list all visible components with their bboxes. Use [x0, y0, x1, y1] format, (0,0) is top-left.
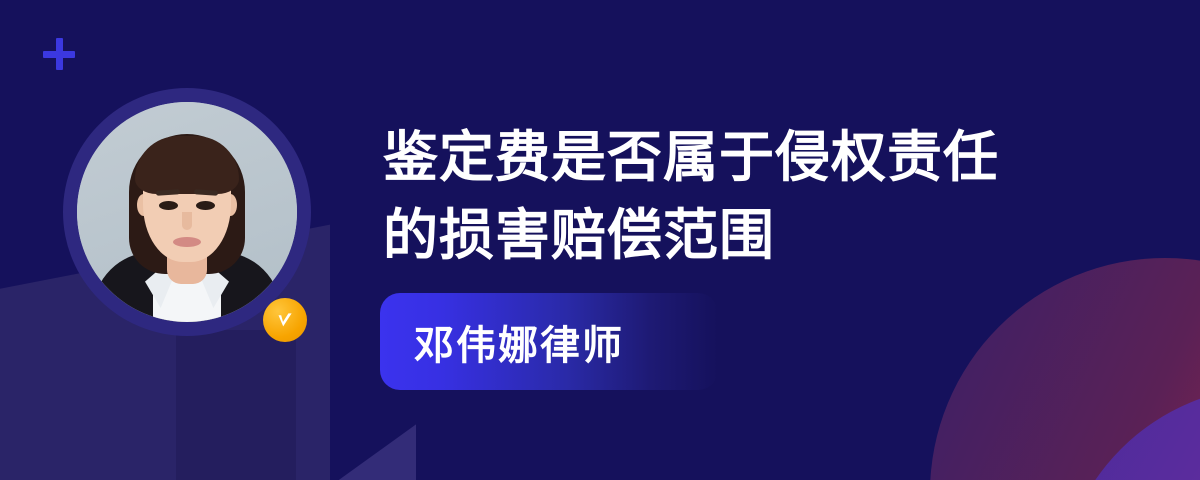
- lawyer-name-label: 邓伟娜律师: [380, 313, 624, 371]
- portrait-nose: [182, 212, 192, 230]
- angled-slab-center: [176, 330, 296, 480]
- portrait-eye-left: [159, 201, 178, 210]
- avatar-photo: [77, 102, 297, 322]
- portrait-eye-right: [196, 201, 215, 210]
- plus-icon: [43, 38, 75, 70]
- portrait-mouth: [173, 237, 201, 247]
- lawyer-name-badge[interactable]: 邓伟娜律师: [380, 293, 718, 390]
- avatar: [63, 88, 311, 336]
- page-title: 鉴定费是否属于侵权责任 的损害赔偿范围: [383, 118, 1083, 274]
- lawyer-article-banner: 鉴定费是否属于侵权责任 的损害赔偿范围 邓伟娜律师: [0, 0, 1200, 480]
- verified-check-icon: [263, 298, 307, 342]
